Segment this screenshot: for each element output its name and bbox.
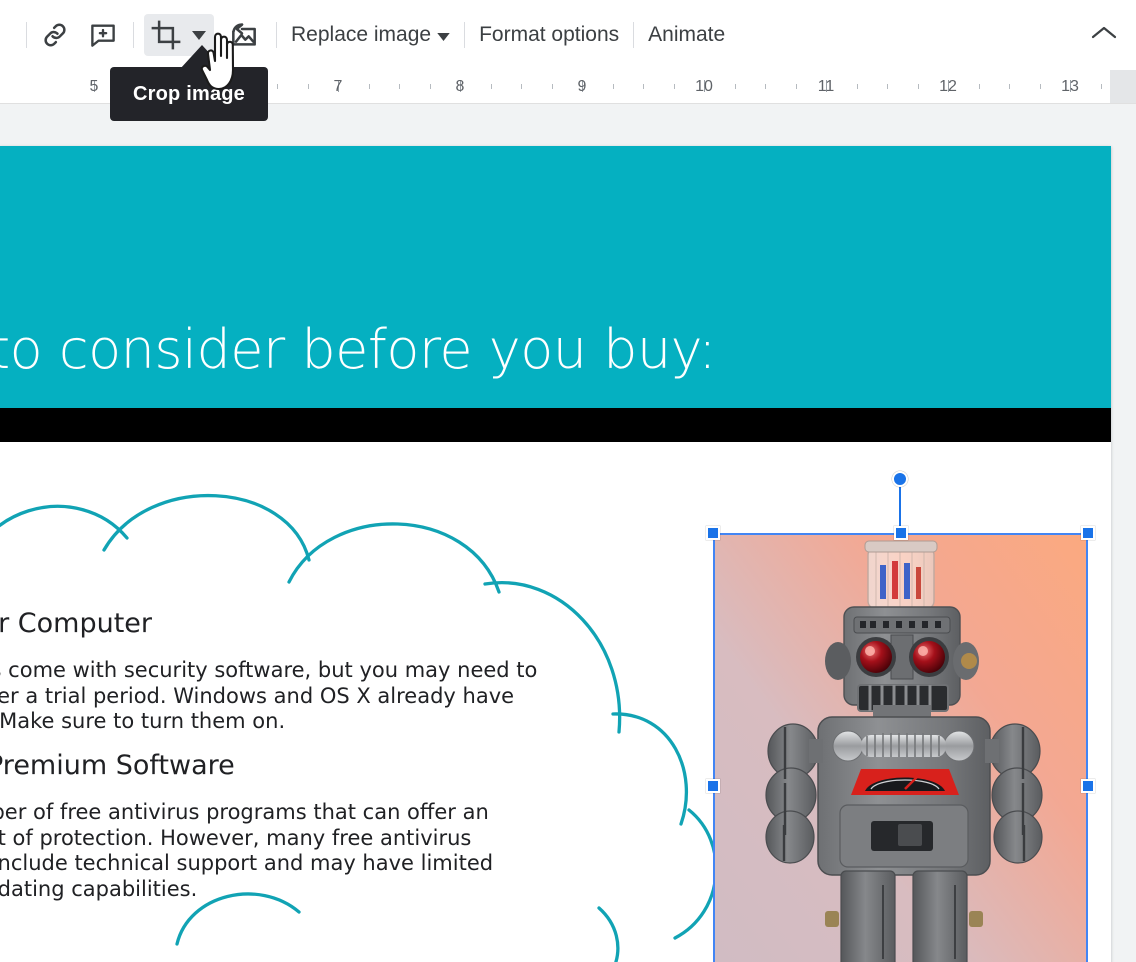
replace-image-button[interactable]: Replace image bbox=[277, 15, 464, 55]
resize-handle-middle-right[interactable] bbox=[1081, 779, 1095, 793]
animate-button[interactable]: Animate bbox=[634, 15, 739, 55]
ruler-tick-minor bbox=[613, 84, 614, 89]
section-heading-1[interactable]: ur Computer bbox=[0, 608, 152, 639]
ruler-number: 11 bbox=[818, 78, 835, 96]
reset-image-button[interactable] bbox=[224, 15, 264, 55]
ruler-tick-minor bbox=[796, 84, 797, 89]
resize-handle-top-left[interactable] bbox=[706, 526, 720, 540]
ruler-tick-minor bbox=[277, 84, 278, 89]
tooltip-arrow bbox=[180, 45, 224, 69]
toolbar-divider bbox=[133, 22, 134, 48]
ruler-tick-minor bbox=[979, 84, 980, 89]
insert-link-icon bbox=[40, 20, 70, 50]
section-body-1[interactable]: ers come with security software, but you… bbox=[0, 658, 537, 735]
rotate-handle[interactable] bbox=[892, 471, 908, 487]
animate-label: Animate bbox=[648, 23, 725, 47]
collapse-menus-button[interactable] bbox=[1080, 11, 1128, 59]
ruler-tick-minor bbox=[521, 84, 522, 89]
ruler-number: 10 bbox=[695, 78, 713, 96]
tooltip-text: Crop image bbox=[133, 83, 245, 106]
section-body-2[interactable]: mber of free antivirus programs that can… bbox=[0, 800, 493, 902]
section-heading-2[interactable]: Premium Software bbox=[0, 750, 235, 781]
ruler-tick-minor bbox=[308, 84, 309, 89]
toolbar-divider bbox=[26, 22, 27, 48]
slide-title[interactable]: to consider before you buy: bbox=[0, 318, 716, 381]
resize-handle-top-center[interactable] bbox=[894, 526, 908, 540]
replace-image-label: Replace image bbox=[291, 23, 431, 47]
ruler-number: 9 bbox=[578, 78, 587, 96]
tin-robot-image[interactable] bbox=[713, 533, 1088, 962]
add-comment-icon bbox=[88, 20, 118, 50]
ruler-number: 12 bbox=[939, 78, 957, 96]
ruler-tick-minor bbox=[735, 84, 736, 89]
ruler-number: 8 bbox=[456, 78, 465, 96]
slide-canvas[interactable]: to consider before you buy: ur Computer … bbox=[0, 104, 1136, 962]
ruler-gutter bbox=[1110, 70, 1136, 103]
image-toolbar: Replace image Format options Animate bbox=[0, 0, 1136, 70]
ruler-tick-minor bbox=[918, 84, 919, 89]
ruler-tick-minor bbox=[765, 84, 766, 89]
add-comment-button[interactable] bbox=[83, 15, 123, 55]
resize-handle-middle-left[interactable] bbox=[706, 779, 720, 793]
ruler-tick-minor bbox=[674, 84, 675, 89]
ruler-number: 5 bbox=[90, 78, 99, 96]
insert-link-button[interactable] bbox=[35, 15, 75, 55]
ruler-tick-minor bbox=[491, 84, 492, 89]
crop-image-tooltip: Crop image bbox=[110, 67, 268, 121]
ruler-tick-minor bbox=[887, 84, 888, 89]
chevron-up-icon bbox=[1091, 25, 1117, 46]
ruler-tick-minor bbox=[369, 84, 370, 89]
ruler-tick-minor bbox=[399, 84, 400, 89]
format-options-button[interactable]: Format options bbox=[465, 15, 633, 55]
ruler-tick-minor bbox=[643, 84, 644, 89]
resize-handle-top-right[interactable] bbox=[1081, 526, 1095, 540]
ruler-number: 7 bbox=[334, 78, 343, 96]
selected-image-object[interactable] bbox=[713, 533, 1088, 962]
ruler-number: 13 bbox=[1061, 78, 1079, 96]
ruler-tick-minor bbox=[430, 84, 431, 89]
format-options-label: Format options bbox=[479, 23, 619, 47]
ruler-tick-minor bbox=[1101, 84, 1102, 89]
ruler-tick-minor bbox=[857, 84, 858, 89]
ruler-tick-minor bbox=[1009, 84, 1010, 89]
ruler-tick-minor bbox=[1040, 84, 1041, 89]
ruler-tick-minor bbox=[552, 84, 553, 89]
reset-image-icon bbox=[228, 19, 260, 51]
slide-black-bar bbox=[0, 408, 1111, 442]
chevron-down-icon bbox=[437, 23, 450, 47]
app-root: Replace image Format options Animate 578… bbox=[0, 0, 1136, 962]
